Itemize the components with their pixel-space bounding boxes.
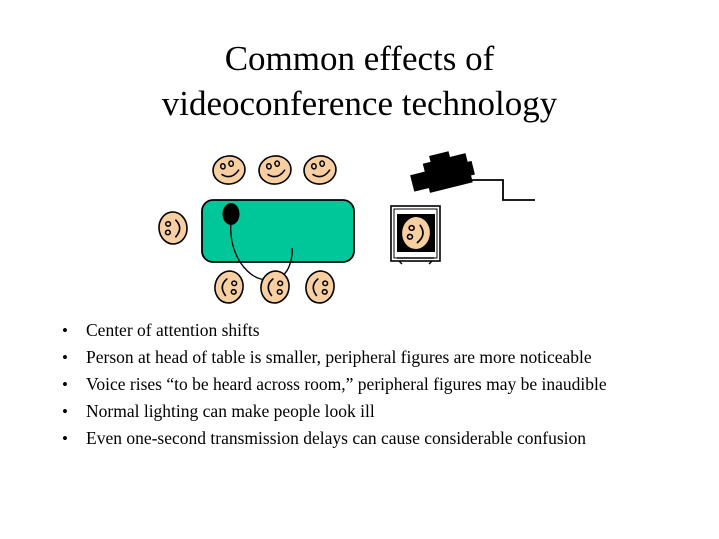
seated-face-top-3: [302, 154, 338, 186]
page-title: Common effects of videoconference techno…: [40, 36, 679, 126]
slide-canvas: Common effects of videoconference techno…: [0, 0, 719, 539]
seated-face-bottom-3: [303, 269, 336, 305]
list-item: • Normal lighting can make people look i…: [57, 399, 657, 424]
bullet-text: Center of attention shifts: [86, 318, 657, 343]
page-title-line-2: videoconference technology: [40, 81, 679, 126]
bullet-list: • Center of attention shifts • Person at…: [57, 318, 657, 453]
list-item: • Person at head of table is smaller, pe…: [57, 345, 657, 370]
bullet-marker-icon: •: [57, 372, 86, 397]
bullet-text: Person at head of table is smaller, peri…: [86, 345, 657, 370]
list-item: • Center of attention shifts: [57, 318, 657, 343]
bullet-marker-icon: •: [57, 345, 86, 370]
camera-cable: [470, 180, 535, 200]
seated-face-head-of-table: [158, 211, 189, 245]
seated-face-top-2: [257, 154, 293, 186]
conference-room-diagram: [0, 140, 719, 315]
bullet-text: Normal lighting can make people look ill: [86, 399, 657, 424]
page-title-line-1: Common effects of: [40, 36, 679, 81]
bullet-text: Even one-second transmission delays can …: [86, 426, 657, 451]
microphone-icon: [223, 203, 240, 225]
bullet-text: Voice rises “to be heard across room,” p…: [86, 372, 657, 397]
seated-face-top-1: [211, 154, 247, 186]
bullet-marker-icon: •: [57, 426, 86, 451]
bullet-marker-icon: •: [57, 318, 86, 343]
list-item: • Voice rises “to be heard across room,”…: [57, 372, 657, 397]
video-monitor: [391, 206, 440, 264]
seated-face-bottom-2: [258, 269, 291, 305]
video-camera-icon: [407, 146, 477, 196]
seated-face-bottom-1: [212, 269, 245, 305]
bullet-marker-icon: •: [57, 399, 86, 424]
list-item: • Even one-second transmission delays ca…: [57, 426, 657, 451]
